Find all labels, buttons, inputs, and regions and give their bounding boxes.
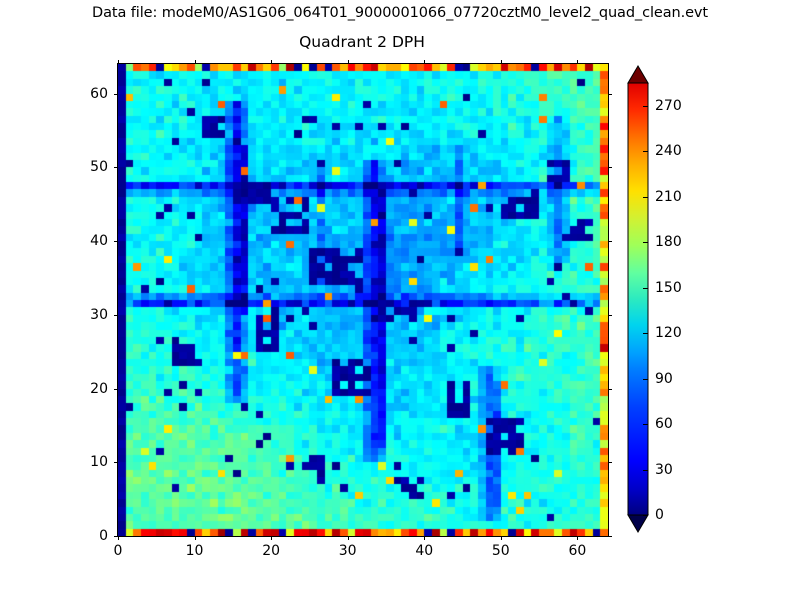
y-tick-label: 20 — [90, 381, 108, 397]
y-tick-mark — [114, 315, 118, 316]
x-tick-label: 30 — [339, 543, 357, 559]
colorbar-tick-label: 0 — [655, 507, 664, 523]
y-tick-label: 60 — [90, 86, 108, 102]
colorbar-tick-label: 120 — [655, 325, 682, 341]
colorbar-tick-mark — [643, 151, 648, 152]
colorbar-tick-mark — [643, 379, 648, 380]
colorbar-tick-mark — [643, 515, 648, 516]
heatmap-image — [118, 64, 608, 536]
colorbar-tick-label: 180 — [655, 234, 682, 250]
x-tick-mark — [195, 536, 196, 540]
x-tick-label: 40 — [415, 543, 433, 559]
y-tick-mark — [114, 462, 118, 463]
y-tick-mark — [114, 536, 118, 537]
y-tick-mark — [114, 241, 118, 242]
colorbar-tick-mark — [643, 106, 648, 107]
colorbar-tick-label: 270 — [655, 98, 682, 114]
x-tick-mark — [577, 60, 578, 64]
colorbar-tick-mark — [643, 424, 648, 425]
x-tick-mark — [501, 60, 502, 64]
y-tick-label: 0 — [99, 528, 108, 544]
plot-title: Quadrant 2 DPH — [117, 33, 607, 51]
y-tick-mark — [114, 389, 118, 390]
x-tick-label: 10 — [186, 543, 204, 559]
y-tick-mark — [608, 389, 612, 390]
colorbar-tick-label: 210 — [655, 189, 682, 205]
colorbar-gradient — [625, 63, 651, 535]
x-tick-mark — [348, 536, 349, 540]
x-tick-mark — [424, 60, 425, 64]
colorbar-tick-label: 240 — [655, 143, 682, 159]
x-tick-mark — [118, 60, 119, 64]
colorbar: 0306090120150180210240270 — [625, 63, 651, 535]
x-tick-mark — [424, 536, 425, 540]
heatmap-axes: 0102030405060 0102030405060 — [117, 63, 609, 537]
y-tick-label: 10 — [90, 454, 108, 470]
y-tick-label: 30 — [90, 307, 108, 323]
colorbar-tick-mark — [643, 333, 648, 334]
x-tick-mark — [195, 60, 196, 64]
colorbar-tick-mark — [643, 242, 648, 243]
colorbar-tick-mark — [643, 288, 648, 289]
colorbar-tick-mark — [643, 470, 648, 471]
colorbar-tick-label: 30 — [655, 462, 673, 478]
x-tick-mark — [501, 536, 502, 540]
x-tick-label: 0 — [114, 543, 123, 559]
x-tick-mark — [271, 60, 272, 64]
x-tick-label: 20 — [262, 543, 280, 559]
y-tick-mark — [114, 94, 118, 95]
x-tick-mark — [348, 60, 349, 64]
x-tick-mark — [118, 536, 119, 540]
figure-suptitle: Data file: modeM0/AS1G06_064T01_90000010… — [0, 5, 800, 21]
colorbar-tick-label: 60 — [655, 416, 673, 432]
y-tick-label: 40 — [90, 233, 108, 249]
x-tick-label: 60 — [568, 543, 586, 559]
y-tick-mark — [114, 167, 118, 168]
y-tick-mark — [608, 315, 612, 316]
y-tick-mark — [608, 241, 612, 242]
colorbar-tick-label: 90 — [655, 371, 673, 387]
x-tick-mark — [577, 536, 578, 540]
x-tick-mark — [271, 536, 272, 540]
x-tick-label: 50 — [492, 543, 510, 559]
y-tick-mark — [608, 462, 612, 463]
y-tick-label: 50 — [90, 159, 108, 175]
y-tick-mark — [608, 536, 612, 537]
colorbar-tick-mark — [643, 197, 648, 198]
y-tick-mark — [608, 167, 612, 168]
matplotlib-figure: Data file: modeM0/AS1G06_064T01_90000010… — [0, 0, 800, 600]
colorbar-tick-label: 150 — [655, 280, 682, 296]
y-tick-mark — [608, 94, 612, 95]
